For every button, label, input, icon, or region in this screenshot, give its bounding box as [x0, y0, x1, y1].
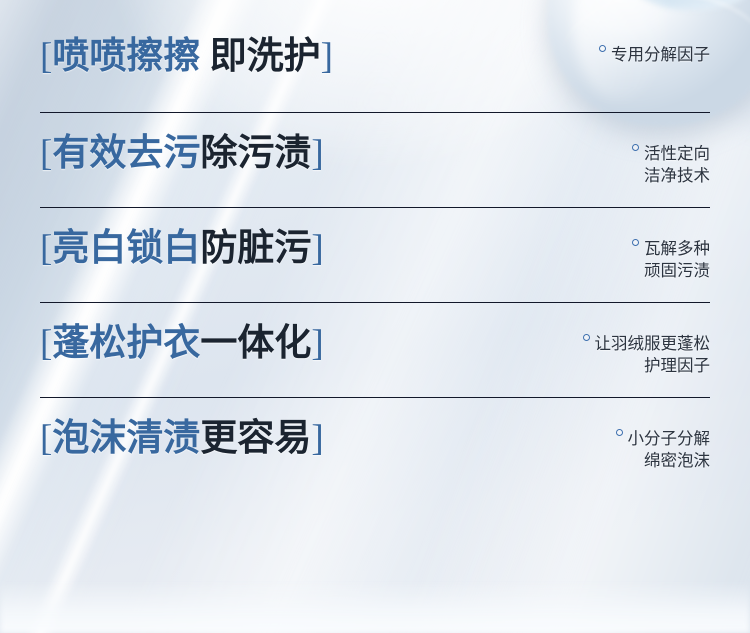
feature-note-line: 护理因子	[595, 355, 711, 377]
circle-bullet-icon	[583, 334, 590, 341]
feature-row: [蓬松护衣一体化] 让羽绒服更蓬松 护理因子	[0, 303, 750, 398]
headline-dark-text: 即洗护	[210, 36, 321, 77]
headline-accent-text: 泡沫清渍	[52, 418, 200, 459]
feature-headline: [蓬松护衣一体化]	[40, 325, 324, 362]
feature-headline: [泡沫清渍更容易]	[40, 420, 324, 457]
headline-accent-text: 喷喷擦擦	[52, 36, 200, 77]
feature-note-line: 让羽绒服更蓬松	[595, 333, 711, 355]
bracket-close: ]	[311, 323, 323, 364]
feature-row: [有效去污除污渍] 活性定向 洁净技术	[0, 113, 750, 208]
feature-note-line: 瓦解多种	[644, 238, 710, 260]
feature-note-line: 活性定向	[644, 143, 710, 165]
feature-note-line: 洁净技术	[644, 165, 710, 187]
bracket-close: ]	[311, 133, 323, 174]
background-bottom-band	[0, 581, 750, 633]
circle-bullet-icon	[616, 429, 623, 436]
circle-bullet-icon	[632, 144, 639, 151]
feature-note: 活性定向 洁净技术	[630, 143, 710, 188]
headline-dark-text: 更容易	[200, 418, 311, 459]
headline-dark-text: 防脏污	[200, 228, 311, 269]
bracket-open: [	[40, 228, 52, 269]
headline-space	[200, 36, 209, 77]
headline-dark-text: 一体化	[200, 323, 311, 364]
feature-headline: [有效去污除污渍]	[40, 135, 324, 172]
feature-note-line: 专用分解因子	[611, 44, 710, 66]
headline-accent-text: 蓬松护衣	[52, 323, 200, 364]
bracket-open: [	[40, 418, 52, 459]
circle-bullet-icon	[632, 239, 639, 246]
headline-accent-text: 亮白锁白	[52, 228, 200, 269]
headline-dark-text: 除污渍	[200, 133, 311, 174]
feature-note: 小分子分解 绵密泡沫	[614, 428, 711, 473]
feature-note-line: 小分子分解	[628, 428, 711, 450]
feature-note-line: 绵密泡沫	[628, 450, 711, 472]
bracket-close: ]	[311, 228, 323, 269]
headline-accent-text: 有效去污	[52, 133, 200, 174]
feature-headline: [喷喷擦擦 即洗护]	[40, 38, 333, 75]
bracket-open: [	[40, 133, 52, 174]
bracket-open: [	[40, 323, 52, 364]
feature-note: 让羽绒服更蓬松 护理因子	[581, 333, 711, 378]
feature-headline: [亮白锁白防脏污]	[40, 230, 324, 267]
product-feature-banner: [喷喷擦擦 即洗护] 专用分解因子 [有效去污除污渍] 活性定向 洁净技术 [亮…	[0, 0, 750, 633]
feature-row: [喷喷擦擦 即洗护] 专用分解因子	[0, 0, 750, 113]
feature-note: 瓦解多种 顽固污渍	[630, 238, 710, 283]
bracket-open: [	[40, 36, 52, 77]
bracket-close: ]	[321, 36, 333, 77]
bracket-close: ]	[311, 418, 323, 459]
feature-row: [泡沫清渍更容易] 小分子分解 绵密泡沫	[0, 398, 750, 493]
circle-bullet-icon	[599, 45, 606, 52]
feature-note: 专用分解因子	[597, 44, 710, 66]
feature-row: [亮白锁白防脏污] 瓦解多种 顽固污渍	[0, 208, 750, 303]
feature-note-line: 顽固污渍	[644, 260, 710, 282]
feature-list: [喷喷擦擦 即洗护] 专用分解因子 [有效去污除污渍] 活性定向 洁净技术 [亮…	[0, 0, 750, 493]
